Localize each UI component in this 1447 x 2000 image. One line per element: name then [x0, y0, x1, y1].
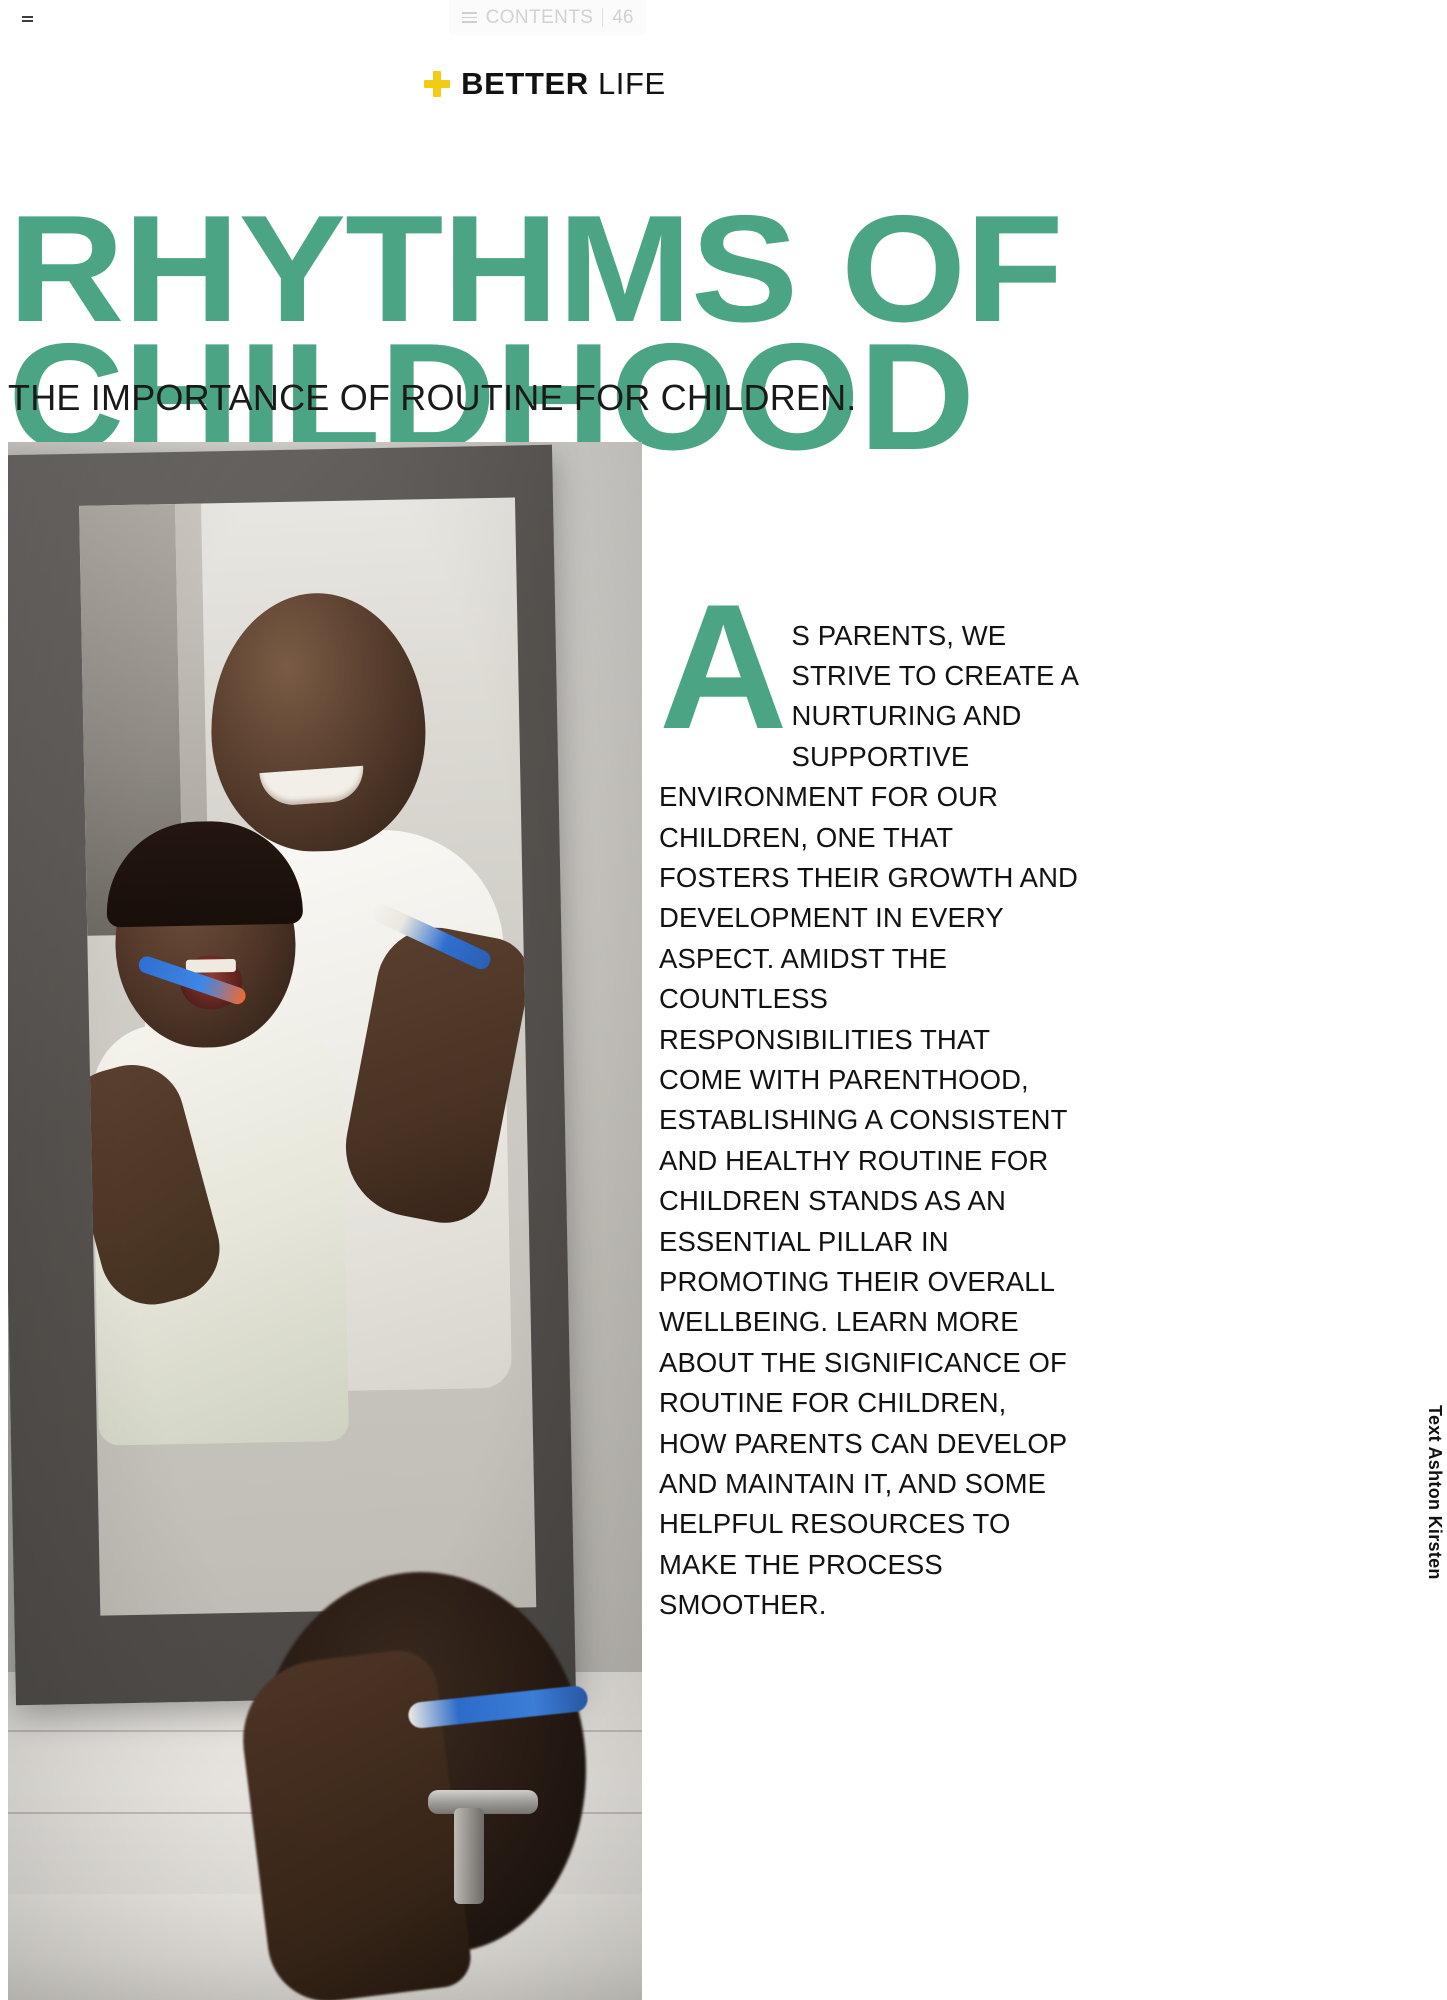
plus-icon: [424, 71, 450, 97]
mirror-frame: [8, 445, 576, 1706]
father-head: [209, 591, 428, 853]
mirror-reflection: [79, 497, 536, 1615]
page-title: RHYTHMS OF CHILDHOOD: [8, 206, 1068, 461]
contents-label: CONTENTS: [486, 7, 594, 29]
section-kicker: BETTER LIFE: [0, 68, 1090, 99]
divider: [602, 8, 603, 27]
kicker-bold-word: BETTER: [461, 66, 589, 101]
registration-mark: [22, 16, 33, 23]
subtitle: THE IMPORTANCE OF ROUTINE FOR CHILDREN.: [8, 377, 857, 419]
page-number: 46: [612, 7, 633, 29]
article-body-text: S PARENTS, WE STRIVE TO CREATE A NURTURI…: [659, 616, 1079, 1626]
text-credit: Text Ashton Kirsten: [1424, 1405, 1445, 1580]
contents-bar[interactable]: CONTENTS 46: [449, 0, 646, 35]
drop-cap: A: [659, 598, 786, 737]
hamburger-icon: [462, 12, 477, 23]
faucet-neck: [454, 1808, 484, 1904]
kicker-text: BETTER LIFE: [461, 68, 666, 99]
kicker-light-word: LIFE: [598, 66, 666, 101]
article-photo: [8, 442, 642, 2000]
article-body-column: A S PARENTS, WE STRIVE TO CREATE A NURTU…: [659, 588, 1079, 1653]
